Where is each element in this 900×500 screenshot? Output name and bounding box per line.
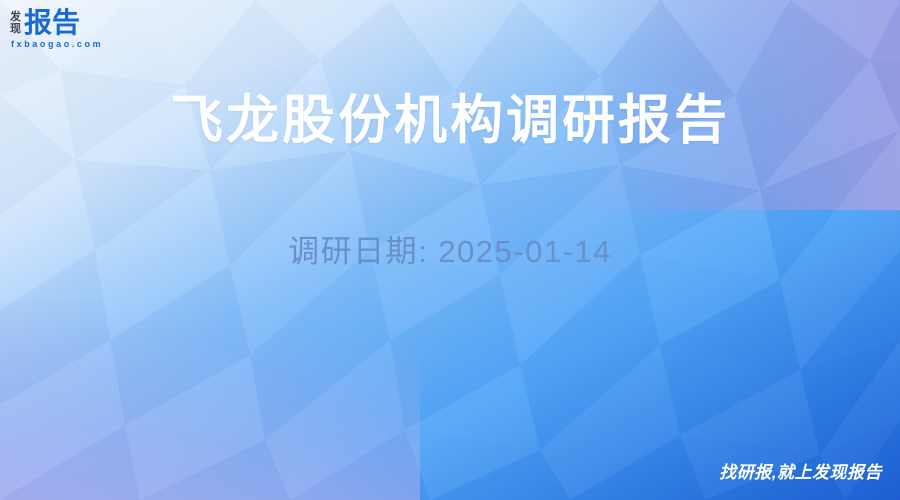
logo-mark-char-top: 发	[10, 11, 21, 23]
cover-title-block: 飞龙股份机构调研报告	[0, 86, 900, 156]
logo-wordmark: 报告	[24, 9, 80, 37]
logo-mark-icon: 发 现	[10, 11, 21, 35]
logo-mark-char-bottom: 现	[10, 23, 21, 35]
logo-wordmark-row: 发 现 报告	[10, 8, 80, 38]
brand-logo[interactable]: 发 现 报告 fxbaogao.com	[10, 8, 103, 50]
footer-tagline: 找研报,就上发现报告	[719, 462, 882, 484]
logo-domain-text: fxbaogao.com	[11, 39, 103, 50]
survey-date-subtitle: 调研日期: 2025-01-14	[0, 231, 900, 273]
report-cover-page: 发 现 报告 fxbaogao.com 飞龙股份机构调研报告 调研日期: 202…	[0, 0, 900, 500]
page-title: 飞龙股份机构调研报告	[0, 86, 900, 156]
